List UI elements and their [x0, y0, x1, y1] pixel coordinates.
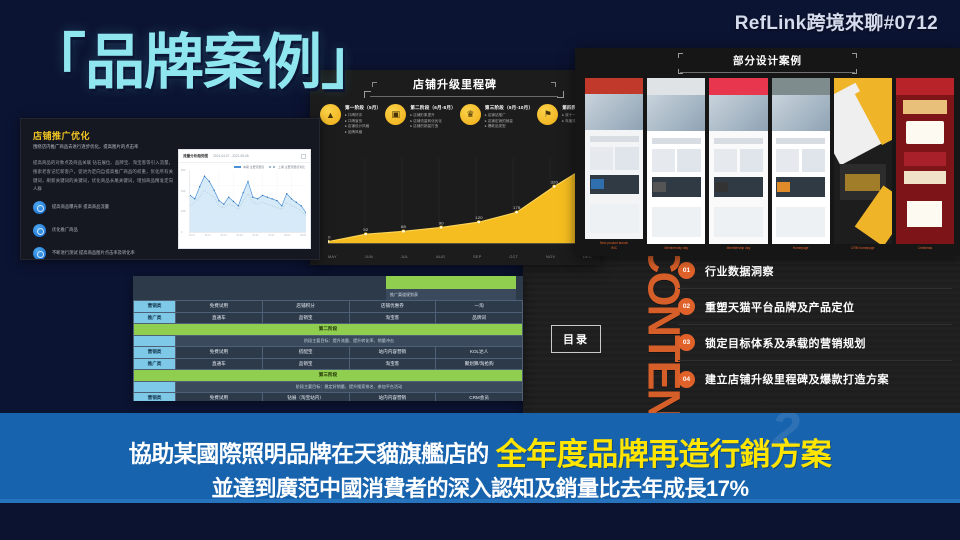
contents-item-number: 04 — [678, 371, 695, 388]
milestone-stage-list: ▲第一阶段（5月）▸ 口碑好评▸ 口碑宣传▸ 店铺设计风格▸ 品牌风格▣第二阶段… — [320, 104, 596, 135]
x-tick: MAY — [328, 255, 337, 259]
table-cell: 聚划算/淘抢购 — [436, 358, 523, 370]
data-label: 68 — [401, 224, 407, 229]
design-mock-image — [647, 78, 705, 244]
table-row-label: 推广类 — [134, 312, 176, 324]
contents-item-label: 行业数据洞察 — [705, 263, 774, 279]
milestone-stage: ♛第三阶段（9月-10月）▸ 店铺站推广▸ 店铺定销的销量▸ 爆款品类型 — [460, 104, 533, 135]
table-goal-text: 阶段主要目标：提升流量、提升转化率、销量冲击 — [176, 335, 523, 347]
x-tick: NOV — [546, 255, 555, 259]
promo-panel-title: 店铺推广优化 — [33, 129, 90, 142]
design-mock-image — [709, 78, 767, 244]
bottom-strip — [0, 503, 960, 540]
corner-mark-icon — [551, 82, 556, 87]
x-tick: 04-15 — [221, 235, 227, 237]
table-row: 推广类直通车品销宝淘宝客品牌词 — [134, 312, 523, 324]
x-tick: SEP — [473, 255, 482, 259]
data-point — [213, 189, 214, 190]
table-row-label: 营销类 — [134, 347, 176, 359]
data-point — [228, 196, 229, 197]
data-point — [515, 211, 519, 214]
data-point — [276, 200, 277, 201]
data-point — [286, 193, 287, 194]
summary-banner: 2 協助某國際照明品牌在天貓旗艦店的全年度品牌再造行銷方案 並達到廣范中國消費者… — [0, 413, 960, 503]
milestone-stage-item: ▸ 爆款品类型 — [485, 124, 533, 130]
milestone-stage-items: ▸ 店铺形象提升▸ 店铺流量转化优化▸ 店铺的销量打造 — [410, 113, 456, 130]
x-tick: JUN — [365, 255, 373, 259]
milestone-stage-name: 第一阶段（5月） — [345, 105, 381, 111]
promo-bullet-list: 提高商品曝光率 提高商品流量 优化推广商品 不断进行测试 提高商品图片点击率及转… — [33, 201, 183, 260]
table-cell: 站内内容营销 — [349, 347, 436, 359]
trophy-icon: ♛ — [460, 104, 481, 125]
data-label: 175 — [513, 205, 521, 210]
data-point — [252, 196, 253, 197]
data-label: 90 — [439, 221, 445, 226]
channel-plan-table-panel: 推广渠道规划表 营销类免费试用店铺积分店铺优惠券一淘推广类直通车品销宝淘宝客品牌… — [133, 276, 523, 401]
page-title: 「品牌案例」 — [26, 33, 380, 93]
data-point — [271, 198, 272, 199]
table-phase-header: 第二阶段 — [134, 324, 523, 336]
x-tick: OCT — [509, 255, 518, 259]
data-label: 120 — [475, 215, 483, 220]
milestone-stage: ▣第二阶段（6月-8月）▸ 店铺形象提升▸ 店铺流量转化优化▸ 店铺的销量打造 — [385, 104, 456, 135]
promo-chart-header: 流量分析趋势图 2021-04-07 - 2021-05-06 — [179, 150, 310, 163]
contents-item-number: 03 — [678, 334, 695, 351]
table-phase-header: 第三阶段 — [134, 370, 523, 382]
contents-item-list: 01行业数据洞察02重塑天猫平台品牌及产品定位03锁定目标体系及承载的营销规划0… — [678, 253, 952, 397]
banner-prefix-text: 協助某國際照明品牌在天貓旗艦店的 — [129, 441, 489, 467]
table-row-label: 营销类 — [134, 393, 176, 402]
data-point — [296, 202, 297, 203]
promo-bullet-item: 优化推广商品 — [33, 224, 183, 237]
corner-mark-icon — [852, 53, 857, 58]
y-tick: 400 — [181, 190, 185, 193]
data-point — [364, 233, 368, 236]
data-point — [194, 198, 195, 199]
data-point — [552, 185, 556, 188]
data-point — [204, 176, 205, 177]
legend-entry: 本期 主要流量值 — [234, 165, 264, 169]
data-point — [218, 200, 219, 201]
contents-item[interactable]: 04建立店铺升级里程碑及爆款打造方案 — [678, 361, 952, 397]
milestone-stage-items: ▸ 口碑好评▸ 口碑宣传▸ 店铺设计风格▸ 品牌风格 — [345, 113, 381, 135]
design-cases-panel: 部分设计案例 New product launchIMCMembership d… — [575, 48, 960, 256]
table-cell: 直通车 — [176, 358, 263, 370]
data-point — [402, 230, 406, 233]
promo-chart-xaxis: 04-07 04-11 04-15 04-19 04-23 04-27 05-0… — [189, 235, 306, 237]
table-row: 第三阶段 — [134, 370, 523, 382]
data-point — [223, 203, 224, 204]
table-row: 阶段主要目标：提升流量、提升转化率、销量冲击 — [134, 335, 523, 347]
table-row: 推广类直通车品销宝淘宝客聚划算/淘抢购 — [134, 358, 523, 370]
legend-label: 上期 主要流量值对比 — [278, 165, 305, 169]
y-tick: 200 — [181, 210, 185, 213]
check-icon — [33, 224, 46, 237]
design-mock-column[interactable]: Membership day — [647, 78, 705, 250]
promo-bullet-item: 提高商品曝光率 提高商品流量 — [33, 201, 183, 214]
store-icon: ▣ — [385, 104, 406, 125]
x-tick: 04-19 — [237, 235, 243, 237]
promo-optimization-panel: 店铺推广优化 围绕店内推广商品去进行逐步优化，提高图片的点击率 提高商品的对象点… — [20, 118, 320, 260]
x-tick: AUG — [436, 255, 445, 259]
design-panel-title: 部分设计案例 — [575, 53, 960, 68]
y-tick: 600 — [181, 169, 185, 172]
data-point — [209, 181, 210, 182]
contents-item[interactable]: 03锁定目标体系及承载的营销规划 — [678, 325, 952, 361]
promo-bullet-label: 提高商品曝光率 提高商品流量 — [52, 204, 109, 210]
table-cell: 站内内容营销 — [349, 393, 436, 402]
table-cell: 店铺积分 — [262, 301, 349, 313]
data-point — [247, 181, 248, 182]
milestone-stage-item: ▸ 品牌风格 — [345, 130, 381, 136]
table-cell: 店铺优惠券 — [349, 301, 436, 313]
rocket-icon: ▲ — [320, 104, 341, 125]
data-label: 320 — [551, 180, 559, 185]
data-point — [238, 205, 239, 206]
milestone-growth-chart: 10526890120175320450 — [328, 158, 592, 247]
data-point — [199, 186, 200, 187]
promo-bullet-item: 不断进行测试 提高商品图片点击率及转化率 — [33, 247, 183, 260]
data-point — [267, 196, 268, 197]
design-mock-list: New product launchIMCMembership dayMembe… — [585, 78, 954, 250]
banner-line-2: 並達到廣范中國消費者的深入認知及銷量比去年成長17% — [0, 471, 960, 503]
contents-item[interactable]: 01行业数据洞察 — [678, 253, 952, 289]
contents-item-number: 02 — [678, 298, 695, 315]
table-cell: 品牌词 — [436, 312, 523, 324]
design-mock-caption: Membership day — [647, 244, 705, 250]
promo-bullet-label: 不断进行测试 提高商品图片点击率及转化率 — [52, 250, 135, 256]
data-label: 52 — [363, 227, 369, 232]
x-tick: 04-27 — [268, 235, 274, 237]
contents-box-label: 目录 — [551, 325, 601, 353]
milestone-stage-text: 第三阶段（9月-10月）▸ 店铺站推广▸ 店铺定销的销量▸ 爆款品类型 — [485, 104, 533, 135]
design-mock-column[interactable]: Membership day — [709, 78, 767, 250]
contents-item-label: 建立店铺升级里程碑及爆款打造方案 — [705, 371, 889, 387]
header-channel-tag: RefLink跨境來聊#0712 — [735, 8, 938, 35]
milestone-stage-item: ▸ 店铺的销量打造 — [410, 124, 456, 130]
table-row: 第二阶段 — [134, 324, 523, 336]
data-point — [262, 195, 263, 196]
milestone-stage-text: 第二阶段（6月-8月）▸ 店铺形象提升▸ 店铺流量转化优化▸ 店铺的销量打造 — [410, 104, 456, 135]
legend-swatch — [234, 166, 241, 168]
data-point — [281, 205, 282, 206]
design-mock-column[interactable]: New product launchIMC — [585, 78, 643, 250]
contents-item-number: 01 — [678, 262, 695, 279]
target-icon — [33, 201, 46, 214]
table-cell: 直通车 — [176, 312, 263, 324]
table-cell: 免费试用 — [176, 347, 263, 359]
data-point — [300, 205, 301, 206]
promo-traffic-chart: 流量分析趋势图 2021-04-07 - 2021-05-06 本期 主要流量值… — [178, 149, 311, 249]
design-mock-column[interactable]: Homepage — [772, 78, 830, 250]
expand-icon[interactable] — [301, 154, 306, 159]
data-point — [257, 198, 258, 199]
design-mock-image — [834, 78, 892, 244]
design-mock-image — [896, 78, 954, 244]
legend-entry: 上期 主要流量值对比 — [269, 165, 305, 169]
table-cell: 免费试用 — [176, 301, 263, 313]
table-goal-text: 阶段主要目标：稳定好销量、提升搜索排名、参加平台活动 — [176, 381, 523, 393]
milestone-stage-name: 第三阶段（9月-10月） — [485, 105, 533, 111]
contents-panel: CONTENTS 目录 01行业数据洞察02重塑天猫平台品牌及产品定位03锁定目… — [523, 249, 960, 413]
table-row-label — [134, 335, 176, 347]
corner-mark-icon — [678, 53, 683, 58]
table-row-label: 营销类 — [134, 301, 176, 313]
title-rule — [370, 96, 558, 97]
design-mock-caption: Membership day — [709, 244, 767, 250]
table-cell: 品销宝 — [262, 358, 349, 370]
table-row: 营销类免费试用搭配宝站内内容营销KOL达人 — [134, 347, 523, 359]
table-row-label: 推广类 — [134, 358, 176, 370]
table-cell: 搭配宝 — [262, 347, 349, 359]
promo-panel-body: 提高商品的对象点及商品关联 钻石展位、品牌宝、淘宝客等引入流量，搜索老客记忆新客… — [33, 159, 173, 194]
contents-item-label: 锁定目标体系及承载的营销规划 — [705, 335, 866, 351]
data-label: 10 — [328, 235, 331, 240]
table-cell: KOL达人 — [436, 347, 523, 359]
x-tick: 05-06 — [300, 235, 306, 237]
legend-label: 本期 主要流量值 — [243, 165, 264, 169]
table-cell: 一淘 — [436, 301, 523, 313]
design-mock-column[interactable]: CRM homepage — [834, 78, 892, 250]
table-cell: 淘宝客 — [349, 312, 436, 324]
table-cell: 品销宝 — [262, 312, 349, 324]
promo-chart-title: 流量分析趋势图 — [183, 154, 208, 159]
table-row-label — [134, 381, 176, 393]
design-mock-image — [585, 78, 643, 239]
design-mock-caption: CRM homepage — [834, 244, 892, 250]
title-rule — [680, 72, 855, 73]
slide-canvas: RefLink跨境來聊#0712 店铺推广优化 围绕店内推广商品去进行逐步优化，… — [0, 0, 960, 540]
x-tick: 04-07 — [189, 235, 195, 237]
x-tick: JUL — [401, 255, 409, 259]
design-mock-caption: Homepage — [772, 244, 830, 250]
milestone-stage-items: ▸ 店铺站推广▸ 店铺定销的销量▸ 爆款品类型 — [485, 113, 533, 130]
x-tick: 05-01 — [284, 235, 290, 237]
x-tick: 04-23 — [252, 235, 258, 237]
promo-chart-svg — [190, 171, 306, 232]
data-point — [439, 226, 443, 229]
channel-plan-table: 营销类免费试用店铺积分店铺优惠券一淘推广类直通车品销宝淘宝客品牌词第二阶段阶段主… — [133, 300, 523, 401]
data-point — [477, 220, 481, 223]
table-cell: 钻展（淘宝站内） — [262, 393, 349, 402]
x-tick: 04-11 — [205, 235, 211, 237]
table-row: 营销类免费试用钻展（淘宝站内）站内内容营销CRM会员 — [134, 393, 523, 402]
milestone-chart-xaxis: MAYJUNJULAUGSEPOCTNOVDEC — [328, 255, 592, 259]
promo-chart-plot: 6004002000 — [189, 171, 306, 233]
banner-line-1: 協助某國際照明品牌在天貓旗艦店的全年度品牌再造行銷方案 — [0, 429, 960, 474]
data-point — [242, 192, 243, 193]
design-mock-caption: New product launchIMC — [585, 239, 643, 250]
milestone-panel: 店铺升级里程碑 ▲第一阶段（5月）▸ 口碑好评▸ 口碑宣传▸ 店铺设计风格▸ 品… — [310, 70, 600, 265]
table-cell: 免费试用 — [176, 393, 263, 402]
info-icon — [33, 247, 46, 260]
y-tick: 0 — [181, 231, 182, 234]
design-mock-caption: Christmas — [896, 244, 954, 250]
design-mock-image — [772, 78, 830, 244]
data-point — [328, 240, 330, 243]
table-cell: CRM会员 — [436, 393, 523, 402]
milestone-chart-svg: 10526890120175320450 — [328, 158, 592, 247]
table-sub-header: 推广渠道规划表 — [386, 289, 516, 300]
table-row: 营销类免费试用店铺积分店铺优惠券一淘 — [134, 301, 523, 313]
promo-bullet-label: 优化推广商品 — [52, 227, 78, 233]
table-green-header — [386, 276, 516, 289]
milestone-stage-text: 第一阶段（5月）▸ 口碑好评▸ 口碑宣传▸ 店铺设计风格▸ 品牌风格 — [345, 104, 381, 135]
table-cell: 淘宝客 — [349, 358, 436, 370]
data-point — [291, 198, 292, 199]
promo-chart-daterange: 2021-04-07 - 2021-05-06 — [213, 154, 248, 158]
banner-highlight-text: 全年度品牌再造行銷方案 — [496, 437, 832, 472]
data-point — [233, 201, 234, 202]
legend-swatch — [269, 166, 276, 168]
promo-panel-subtitle: 围绕店内推广商品去进行逐步优化，提高图片的点击率 — [33, 143, 168, 151]
milestone-stage-name: 第二阶段（6月-8月） — [410, 105, 456, 111]
contents-item-label: 重塑天猫平台品牌及产品定位 — [705, 299, 855, 315]
table-row: 阶段主要目标：稳定好销量、提升搜索排名、参加平台活动 — [134, 381, 523, 393]
design-mock-column[interactable]: Christmas — [896, 78, 954, 250]
flag-icon: ⚑ — [537, 104, 558, 125]
promo-chart-legend: 本期 主要流量值 上期 主要流量值对比 — [179, 163, 310, 169]
milestone-stage: ▲第一阶段（5月）▸ 口碑好评▸ 口碑宣传▸ 店铺设计风格▸ 品牌风格 — [320, 104, 381, 135]
contents-item[interactable]: 02重塑天猫平台品牌及产品定位 — [678, 289, 952, 325]
